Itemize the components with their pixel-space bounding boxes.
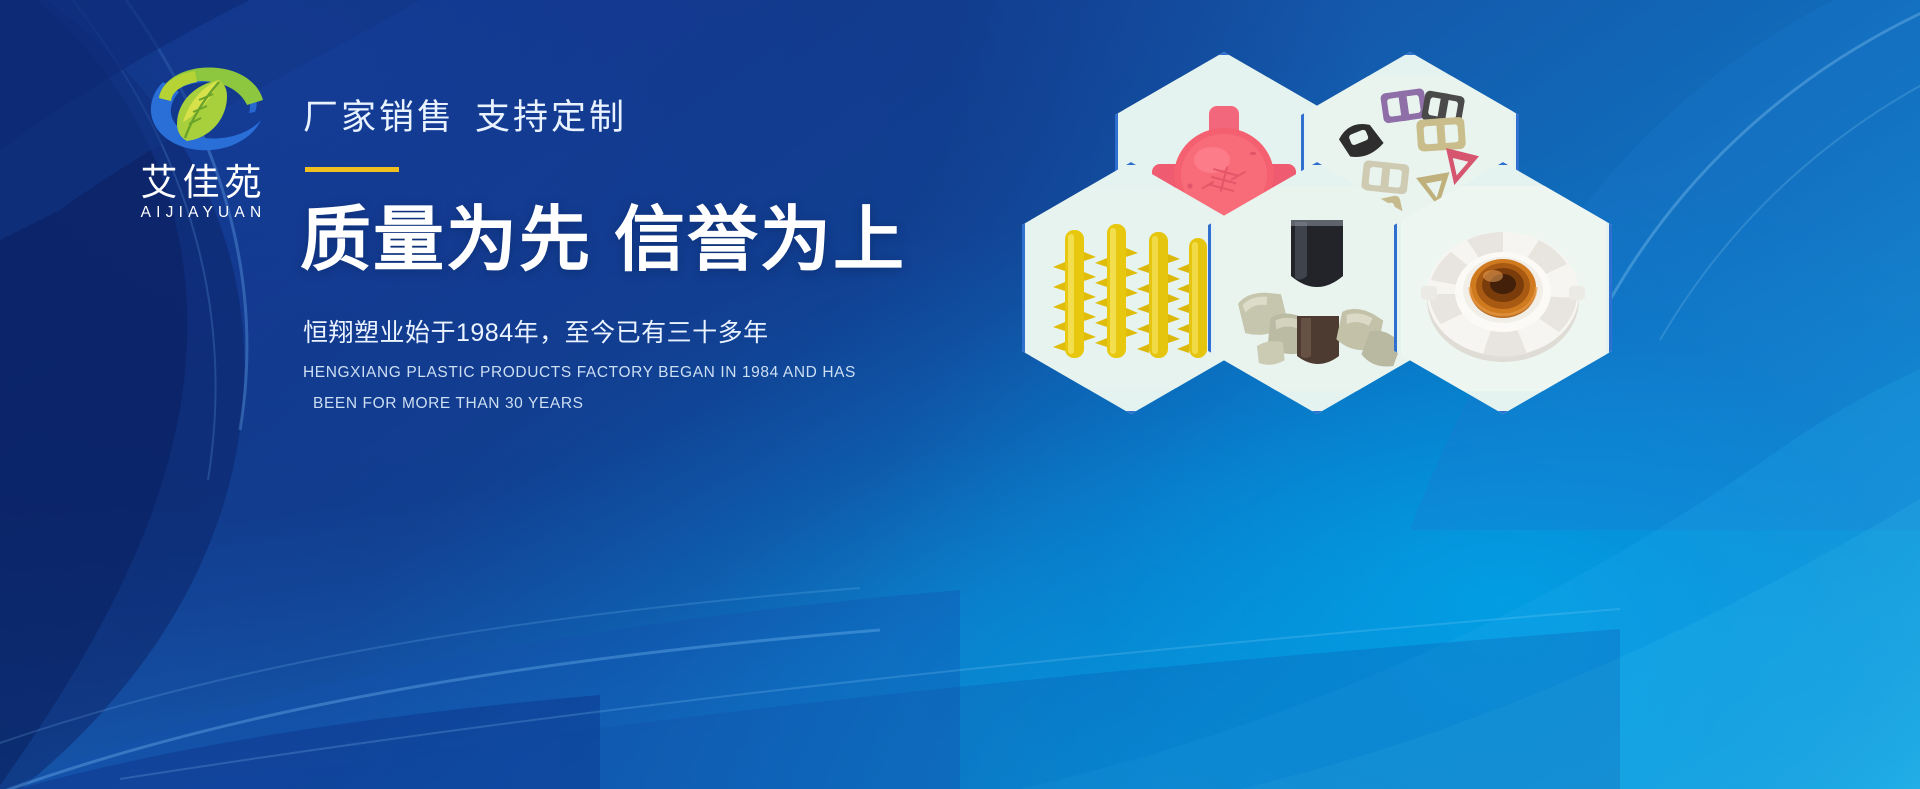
logo-company-pinyin: AIJIAYUAN bbox=[96, 204, 306, 222]
promotional-banner: 艾佳苑 AIJIAYUAN 厂家销售支持定制 质量为先信誉为上 恒翔塑业始于19… bbox=[0, 0, 1920, 789]
hero-headline-left: 质量为先 bbox=[300, 201, 592, 280]
background-glow-bottom-right bbox=[1020, 369, 1920, 789]
product-hexagon-cluster bbox=[1000, 52, 1620, 382]
hero-subline-en-line2: BEEN FOR MORE THAN 30 YEARS bbox=[303, 388, 856, 419]
hero-headline-right: 信誉为上 bbox=[614, 201, 906, 280]
hero-headline: 质量为先信誉为上 bbox=[300, 205, 906, 276]
hero-subline-en: HENGXIANG PLASTIC PRODUCTS FACTORY BEGAN… bbox=[303, 357, 856, 419]
leaf-swoosh-logo-icon bbox=[135, 58, 267, 162]
background-swoosh-bottom-left bbox=[0, 470, 960, 789]
hero-eyebrow-right: 支持定制 bbox=[475, 98, 627, 137]
hero-eyebrow-left: 厂家销售 bbox=[303, 98, 455, 137]
hero-eyebrow: 厂家销售支持定制 bbox=[303, 89, 627, 140]
brand-logo[interactable]: 艾佳苑 AIJIAYUAN bbox=[96, 58, 306, 222]
hero-subline-cn: 恒翔塑业始于1984年，至今已有三十多年 bbox=[303, 313, 769, 349]
background-swoosh-bottom-center bbox=[120, 599, 1620, 789]
hero-subline-en-line1: HENGXIANG PLASTIC PRODUCTS FACTORY BEGAN… bbox=[303, 364, 856, 381]
hero-divider-rule bbox=[305, 167, 399, 172]
logo-company-name-cn: 艾佳苑 bbox=[96, 164, 306, 203]
